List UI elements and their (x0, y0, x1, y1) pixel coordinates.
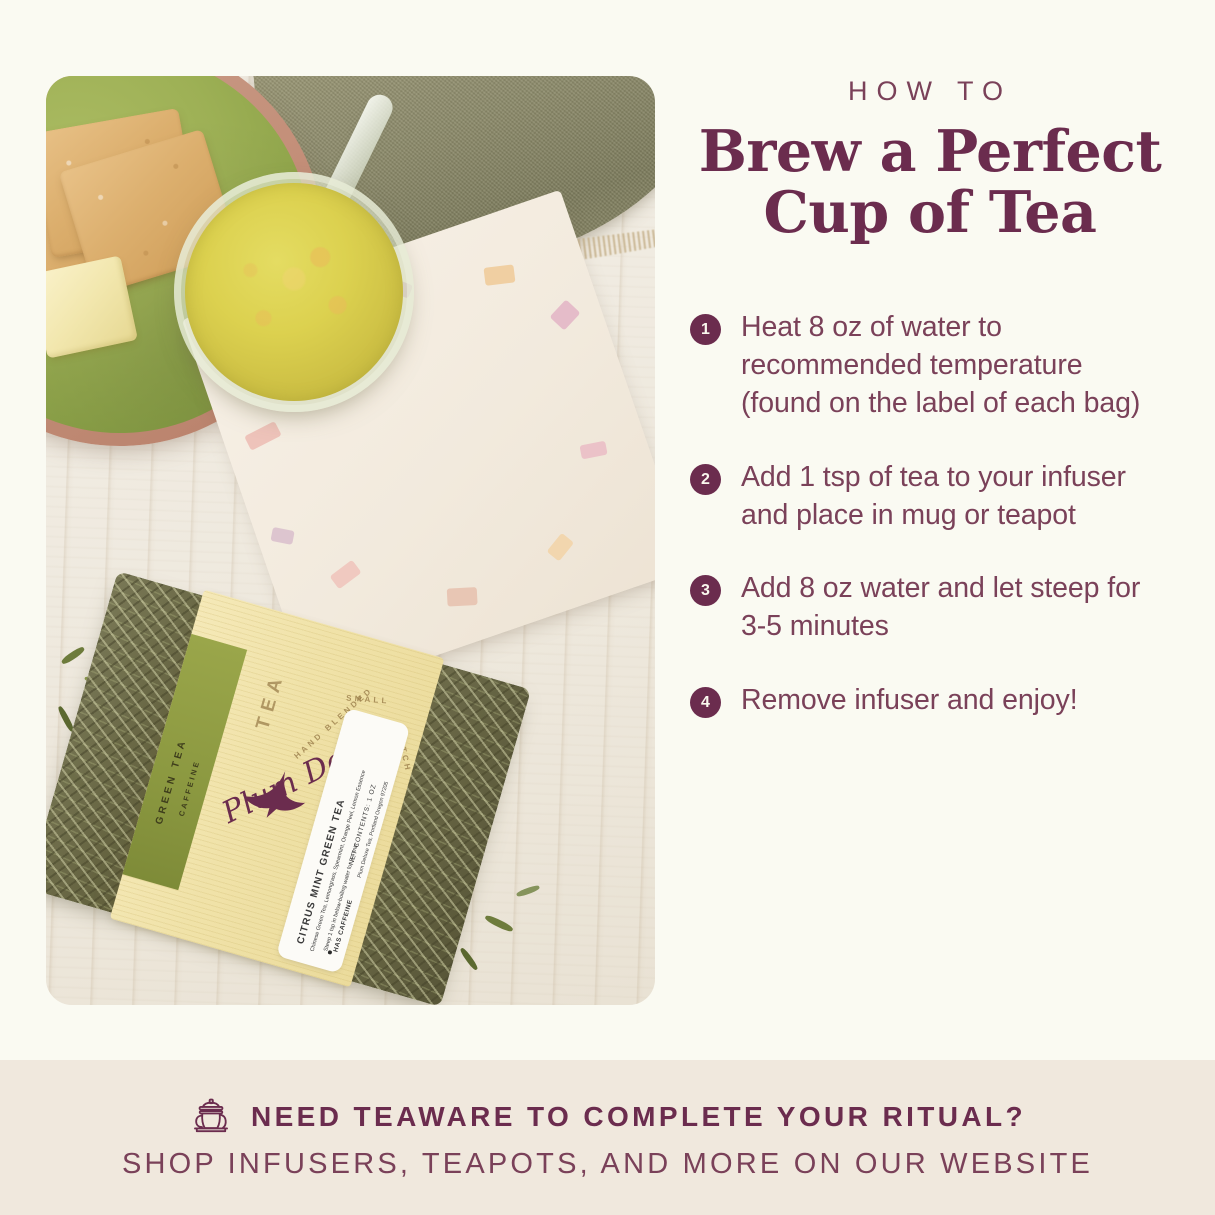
terrazzo-fleck (330, 560, 362, 590)
terrazzo-fleck (550, 299, 581, 330)
page-title: Brew a Perfect Cup of Tea (690, 121, 1170, 243)
call-to-action-banner: NEED TEAWARE TO COMPLETE YOUR RITUAL? SH… (0, 1060, 1215, 1215)
terrazzo-fleck (447, 587, 478, 607)
steps-list: 1 Heat 8 oz of water to recommended temp… (690, 309, 1170, 720)
instructions-column: HOW TO Brew a Perfect Cup of Tea 1 Heat … (690, 76, 1170, 756)
brewed-tea-liquid (185, 183, 403, 401)
banner-headline: NEED TEAWARE TO COMPLETE YOUR RITUAL? (251, 1101, 1026, 1133)
banner-primary-row: NEED TEAWARE TO COMPLETE YOUR RITUAL? (189, 1095, 1026, 1139)
step-item: 1 Heat 8 oz of water to recommended temp… (690, 309, 1170, 423)
teapot-icon (189, 1095, 233, 1139)
hero-photo: GREEN TEA CAFFEINE TEA HAND BLENDED SMAL… (46, 76, 655, 1005)
step-text: Add 8 oz water and let steep for 3-5 min… (741, 570, 1170, 646)
package-tea-word: TEA (252, 669, 289, 732)
step-text: Add 1 tsp of tea to your infuser and pla… (741, 459, 1170, 535)
step-number-badge: 4 (690, 687, 721, 718)
terrazzo-fleck (483, 264, 515, 286)
terrazzo-fleck (579, 441, 607, 460)
page-title-line-2: Cup of Tea (690, 182, 1170, 243)
step-item: 2 Add 1 tsp of tea to your infuser and p… (690, 459, 1170, 535)
step-number-badge: 3 (690, 575, 721, 606)
page-title-line-1: Brew a Perfect (690, 121, 1170, 182)
banner-subheadline: SHOP INFUSERS, TEAPOTS, AND MORE ON OUR … (122, 1148, 1093, 1181)
terrazzo-fleck (270, 527, 294, 545)
eyebrow-label: HOW TO (690, 76, 1170, 107)
step-item: 3 Add 8 oz water and let steep for 3-5 m… (690, 570, 1170, 646)
terrazzo-fleck (547, 533, 575, 562)
terrazzo-fleck (244, 421, 282, 451)
step-number-badge: 2 (690, 464, 721, 495)
step-text: Remove infuser and enjoy! (741, 682, 1078, 720)
step-text: Heat 8 oz of water to recommended temper… (741, 309, 1170, 423)
step-number-badge: 1 (690, 314, 721, 345)
step-item: 4 Remove infuser and enjoy! (690, 682, 1170, 720)
glass-teacup (174, 172, 414, 412)
